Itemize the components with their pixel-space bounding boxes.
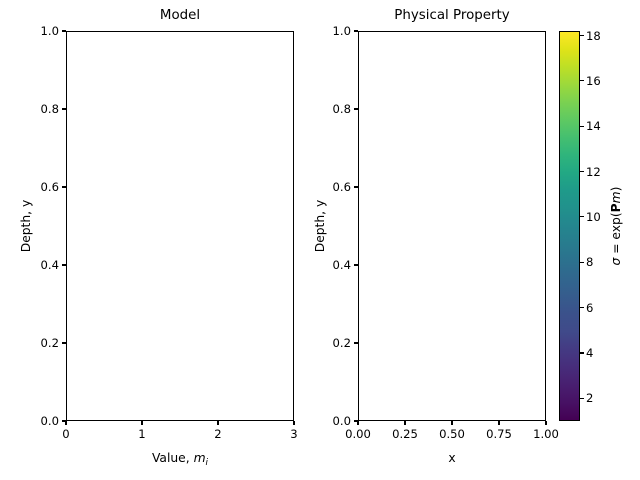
model-xaxis-label: Value, mi (66, 451, 294, 468)
y-tick-label: 0.8 (4, 102, 59, 116)
x-tick-label: 2 (214, 427, 221, 441)
colorbar-tick-mark (580, 35, 584, 36)
colorbar-tick-label: 16 (586, 74, 601, 88)
x-tick-label: 0.50 (439, 427, 465, 441)
y-tick-mark (354, 420, 358, 421)
y-tick-mark (62, 342, 66, 343)
y-tick-label: 0.2 (296, 336, 351, 350)
model-title: Model (66, 8, 294, 23)
y-tick-mark (354, 108, 358, 109)
y-tick-mark (62, 420, 66, 421)
colorbar-tick-mark (580, 262, 584, 263)
property-yaxis-label: Depth, y (313, 156, 327, 296)
x-tick-mark (65, 421, 66, 425)
property-axes-frame (358, 31, 546, 421)
y-tick-label: 0.0 (296, 414, 351, 428)
model-yaxis-label: Depth, y (19, 156, 33, 296)
y-tick-mark (354, 264, 358, 265)
x-tick-mark (357, 421, 358, 425)
x-tick-label: 0 (62, 427, 69, 441)
colorbar-tick-label: 14 (586, 119, 601, 133)
colorbar-tick-mark (580, 398, 584, 399)
colorbar-tick-mark (580, 307, 584, 308)
y-tick-label: 1.0 (296, 24, 351, 38)
x-tick-label: 0.75 (486, 427, 512, 441)
x-tick-label: 3 (290, 427, 297, 441)
y-tick-label: 0.2 (4, 336, 59, 350)
y-tick-mark (354, 342, 358, 343)
colorbar-tick-label: 8 (586, 255, 593, 269)
colorbar-tick-label: 18 (586, 29, 601, 43)
colorbar-tick-label: 12 (586, 165, 601, 179)
model-axes-frame (66, 31, 294, 421)
colorbar-tick-label: 2 (586, 391, 593, 405)
y-tick-label: 1.0 (4, 24, 59, 38)
x-tick-label: 0.00 (345, 427, 371, 441)
colorbar-label: σ = exp(Pm) (609, 156, 623, 296)
colorbar-tick-label: 10 (586, 210, 601, 224)
x-tick-label: 0.25 (392, 427, 418, 441)
x-tick-mark (451, 421, 452, 425)
y-tick-label: 0.8 (296, 102, 351, 116)
y-tick-mark (62, 30, 66, 31)
colorbar-tick-label: 4 (586, 346, 593, 360)
x-tick-mark (404, 421, 405, 425)
colorbar-tick-mark (580, 80, 584, 81)
y-tick-mark (354, 186, 358, 187)
colorbar-tick-mark (580, 126, 584, 127)
x-tick-mark (141, 421, 142, 425)
x-tick-mark (545, 421, 546, 425)
y-tick-mark (62, 108, 66, 109)
x-tick-label: 1 (138, 427, 145, 441)
x-tick-mark (217, 421, 218, 425)
property-title: Physical Property (358, 8, 546, 23)
colorbar-gradient (560, 32, 579, 420)
colorbar-tick-mark (580, 171, 584, 172)
x-tick-label: 1.00 (533, 427, 559, 441)
x-tick-mark (498, 421, 499, 425)
figure-canvas: Model 0123 0.00.20.40.60.81.0 Value, mi … (0, 0, 640, 480)
y-tick-mark (354, 30, 358, 31)
y-tick-label: 0.0 (4, 414, 59, 428)
y-tick-mark (62, 264, 66, 265)
colorbar (559, 31, 580, 421)
colorbar-tick-label: 6 (586, 301, 593, 315)
x-tick-mark (293, 421, 294, 425)
colorbar-tick-mark (580, 216, 584, 217)
y-tick-mark (62, 186, 66, 187)
property-xaxis-label: x (358, 451, 546, 465)
colorbar-tick-mark (580, 352, 584, 353)
